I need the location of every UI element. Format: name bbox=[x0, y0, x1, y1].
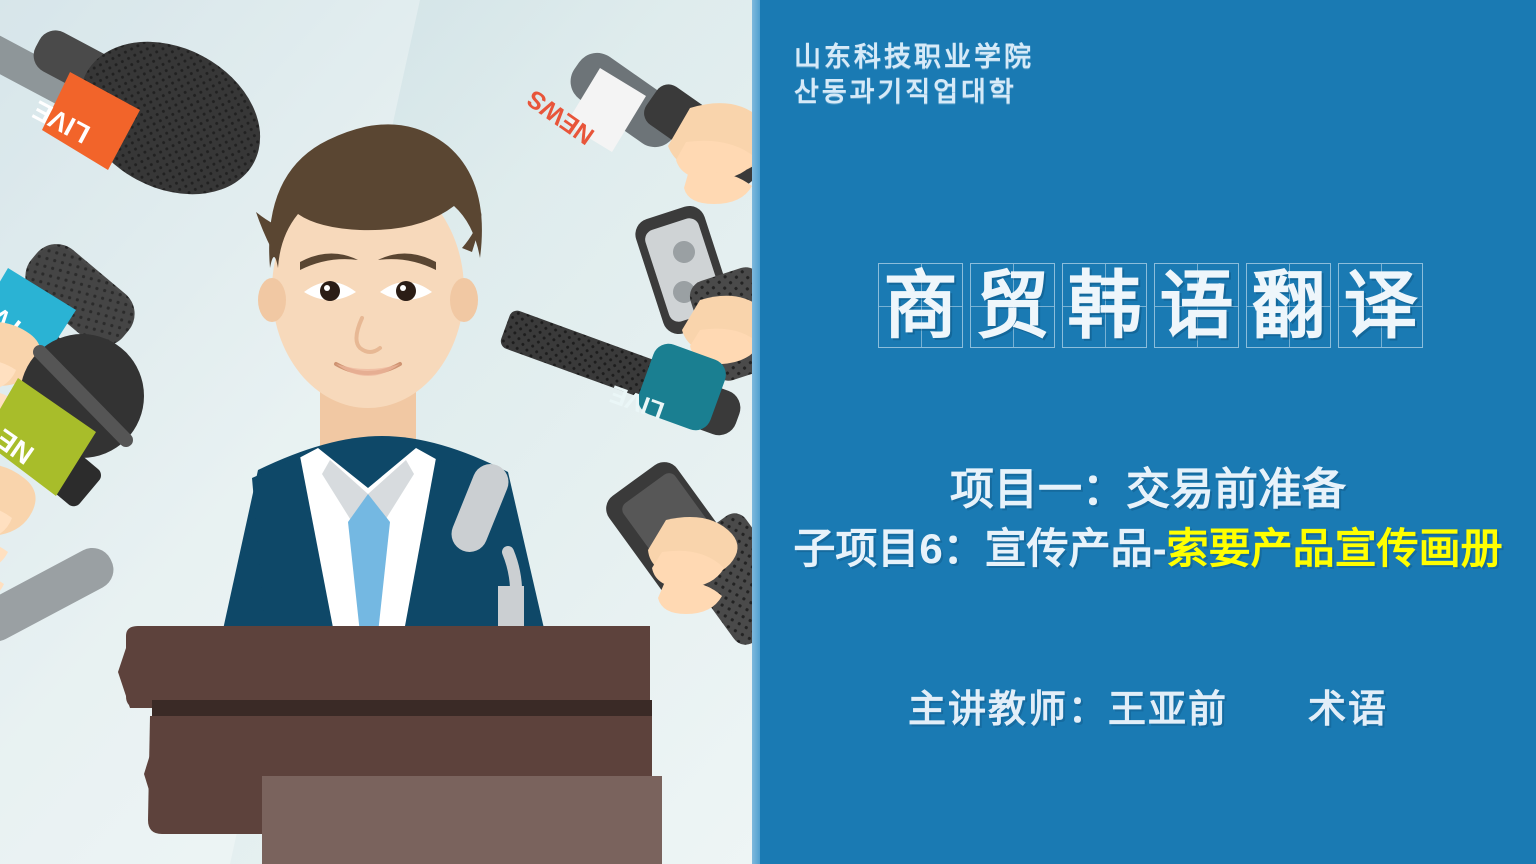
title-char-cell: 韩 bbox=[1062, 263, 1147, 348]
title-char: 贸 bbox=[971, 264, 1054, 347]
slide-root: LIVE TV bbox=[0, 0, 1536, 864]
title-char: 译 bbox=[1339, 264, 1422, 347]
podium bbox=[118, 626, 662, 864]
title-panel: 山东科技职业学院 산동과기직업대학 商 贸 韩 语 翻 译 项目一： bbox=[760, 0, 1536, 864]
title-char-cell: 商 bbox=[878, 263, 963, 348]
press-conference-illustration: LIVE TV bbox=[0, 0, 760, 864]
subproject-highlight: 索要产品宣传画册 bbox=[1167, 525, 1503, 572]
title-char-cell: 译 bbox=[1338, 263, 1423, 348]
title-char-cell: 语 bbox=[1154, 263, 1239, 348]
title-char: 语 bbox=[1155, 264, 1238, 347]
school-name-block: 山东科技职业学院 산동과기직업대학 bbox=[794, 40, 1034, 110]
school-name-kr: 산동과기직업대학 bbox=[794, 75, 1034, 110]
title-char-cell: 翻 bbox=[1246, 263, 1331, 348]
title-char: 翻 bbox=[1247, 264, 1330, 347]
instructor-line: 主讲教师：王亚前 术语 bbox=[760, 678, 1536, 733]
title-char-cell: 贸 bbox=[970, 263, 1055, 348]
subtitle-block: 项目一：交易前准备 子项目6：宣传产品-索要产品宣传画册 bbox=[760, 462, 1536, 576]
project-line: 项目一：交易前准备 bbox=[950, 465, 1346, 514]
illustration-svg: LIVE TV bbox=[0, 0, 760, 864]
subproject-plain: 子项目6：宣传产品- bbox=[793, 525, 1166, 572]
title-char: 商 bbox=[879, 264, 962, 347]
school-name-cn: 山东科技职业学院 bbox=[794, 40, 1034, 75]
subproject-line: 子项目6：宣传产品-索要产品宣传画册 bbox=[760, 522, 1536, 576]
title-char: 韩 bbox=[1063, 264, 1146, 347]
course-title-grid: 商 贸 韩 语 翻 译 bbox=[878, 263, 1423, 348]
